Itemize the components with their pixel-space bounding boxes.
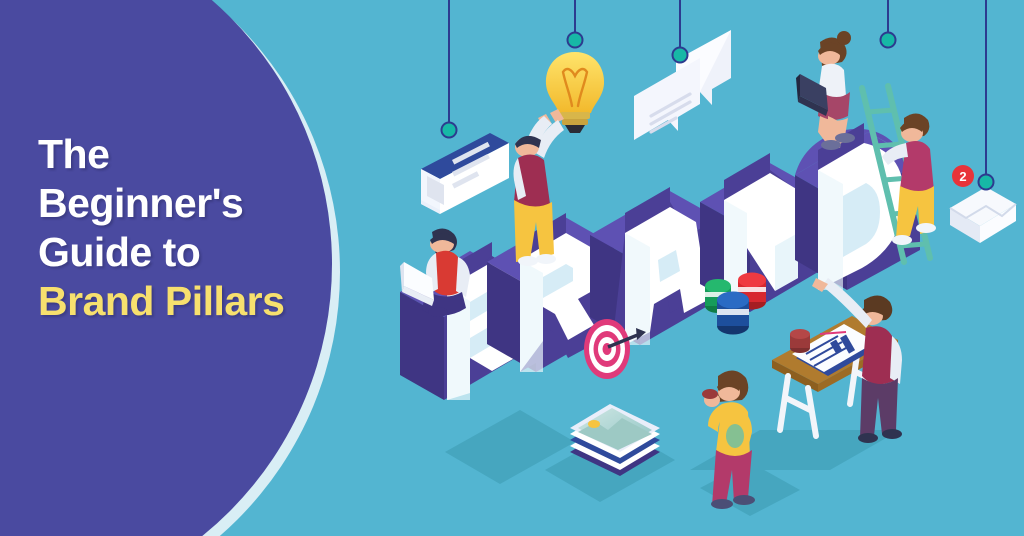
wire-knob-browser: [442, 123, 457, 138]
wire-knob-plain: [881, 33, 896, 48]
wire-knob-envelope: [979, 175, 994, 190]
headline-line-4: Brand Pillars: [38, 277, 338, 326]
envelope-icon: 2: [950, 165, 1016, 243]
notification-badge-count: 2: [959, 169, 966, 184]
banner-root: The Beginner's Guide to Brand Pillars: [0, 0, 1024, 536]
wire-knob-bulb: [568, 33, 583, 48]
wire-knob-speech: [673, 48, 688, 63]
headline-line-1: The: [38, 130, 338, 179]
speech-bubbles-icon: [634, 30, 731, 140]
headline-line-2: Beginner's: [38, 179, 338, 228]
headline-block: The Beginner's Guide to Brand Pillars: [38, 130, 338, 326]
headline-line-3: Guide to: [38, 228, 338, 277]
browser-window-card: [421, 123, 509, 215]
ground-shadows: [445, 410, 900, 516]
